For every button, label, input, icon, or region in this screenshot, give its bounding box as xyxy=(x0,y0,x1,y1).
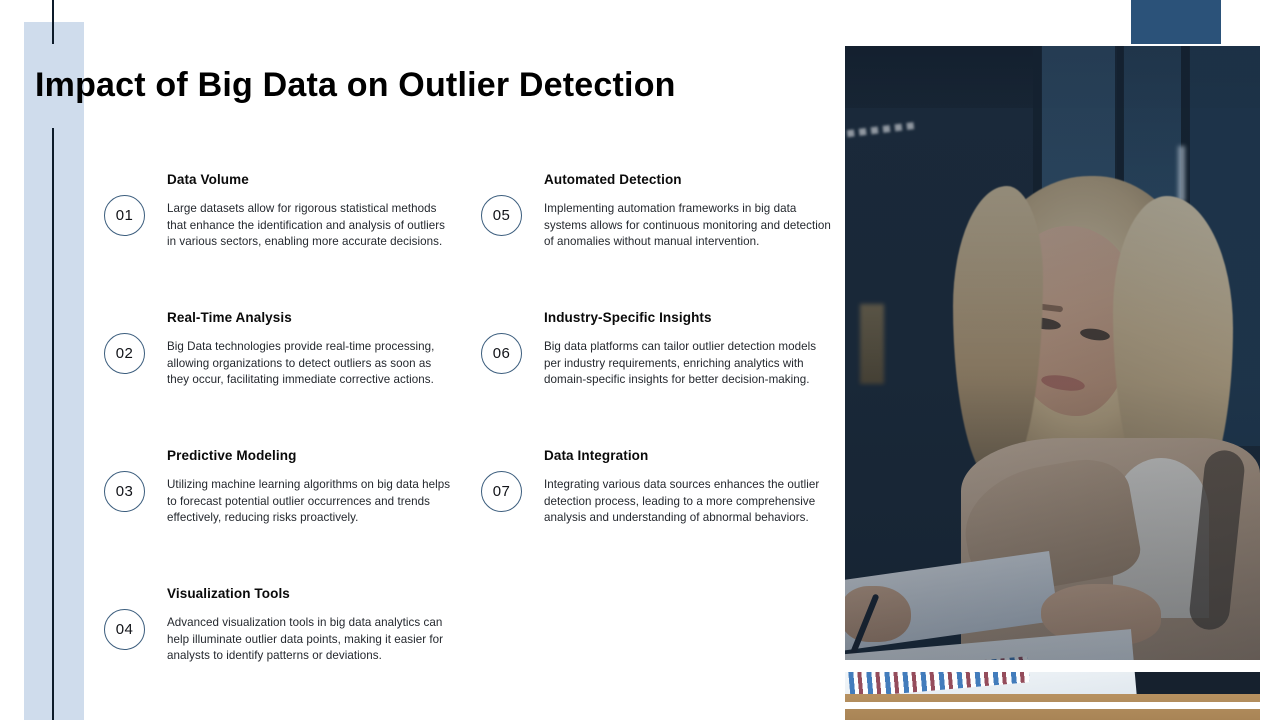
item-number-badge: 02 xyxy=(104,333,145,374)
item-number-badge: 01 xyxy=(104,195,145,236)
slide-root: Impact of Big Data on Outlier Detection … xyxy=(0,0,1280,720)
item-title: Visualization Tools xyxy=(167,586,453,602)
list-item[interactable]: 07 Data Integration Integrating various … xyxy=(481,448,834,586)
photo-montage xyxy=(845,46,1260,720)
item-title: Predictive Modeling xyxy=(167,448,453,464)
list-item[interactable]: 04 Visualization Tools Advanced visualiz… xyxy=(104,586,457,720)
item-number-badge: 06 xyxy=(481,333,522,374)
left-accent-bar xyxy=(24,22,84,720)
item-title: Data Integration xyxy=(544,448,836,464)
item-title: Automated Detection xyxy=(544,172,836,188)
item-body: Data Integration Integrating various dat… xyxy=(544,448,836,526)
item-number-badge: 05 xyxy=(481,195,522,236)
list-item[interactable]: 02 Real-Time Analysis Big Data technolog… xyxy=(104,310,457,448)
item-description: Big data platforms can tailor outlier de… xyxy=(544,339,836,388)
item-number-badge: 07 xyxy=(481,471,522,512)
office-photo xyxy=(845,46,1260,660)
item-body: Visualization Tools Advanced visualizati… xyxy=(167,586,453,664)
item-title: Industry-Specific Insights xyxy=(544,310,836,326)
item-title: Real-Time Analysis xyxy=(167,310,453,326)
item-body: Industry-Specific Insights Big data plat… xyxy=(544,310,836,388)
navy-accent-block xyxy=(1131,0,1221,44)
item-body: Real-Time Analysis Big Data technologies… xyxy=(167,310,453,388)
item-body: Data Volume Large datasets allow for rig… xyxy=(167,172,453,250)
column-left: 01 Data Volume Large datasets allow for … xyxy=(104,172,457,720)
item-description: Large datasets allow for rigorous statis… xyxy=(167,201,453,250)
photo-band-main xyxy=(845,46,1260,660)
item-title: Data Volume xyxy=(167,172,453,188)
photo-band-second xyxy=(845,672,1260,702)
content-columns: 01 Data Volume Large datasets allow for … xyxy=(104,172,834,720)
accent-line-main xyxy=(52,128,54,720)
item-number-badge: 03 xyxy=(104,471,145,512)
item-description: Implementing automation frameworks in bi… xyxy=(544,201,836,250)
list-item[interactable]: 03 Predictive Modeling Utilizing machine… xyxy=(104,448,457,586)
page-title: Impact of Big Data on Outlier Detection xyxy=(35,66,835,105)
item-body: Automated Detection Implementing automat… xyxy=(544,172,836,250)
item-description: Advanced visualization tools in big data… xyxy=(167,615,453,664)
column-right: 05 Automated Detection Implementing auto… xyxy=(481,172,834,720)
item-body: Predictive Modeling Utilizing machine le… xyxy=(167,448,453,526)
accent-line-top xyxy=(52,0,54,44)
item-number-badge: 04 xyxy=(104,609,145,650)
item-description: Utilizing machine learning algorithms on… xyxy=(167,477,453,526)
list-item[interactable]: 06 Industry-Specific Insights Big data p… xyxy=(481,310,834,448)
list-item[interactable]: 01 Data Volume Large datasets allow for … xyxy=(104,172,457,310)
item-description: Integrating various data sources enhance… xyxy=(544,477,836,526)
item-description: Big Data technologies provide real-time … xyxy=(167,339,453,388)
list-item[interactable]: 05 Automated Detection Implementing auto… xyxy=(481,172,834,310)
photo-band-third xyxy=(845,709,1260,720)
